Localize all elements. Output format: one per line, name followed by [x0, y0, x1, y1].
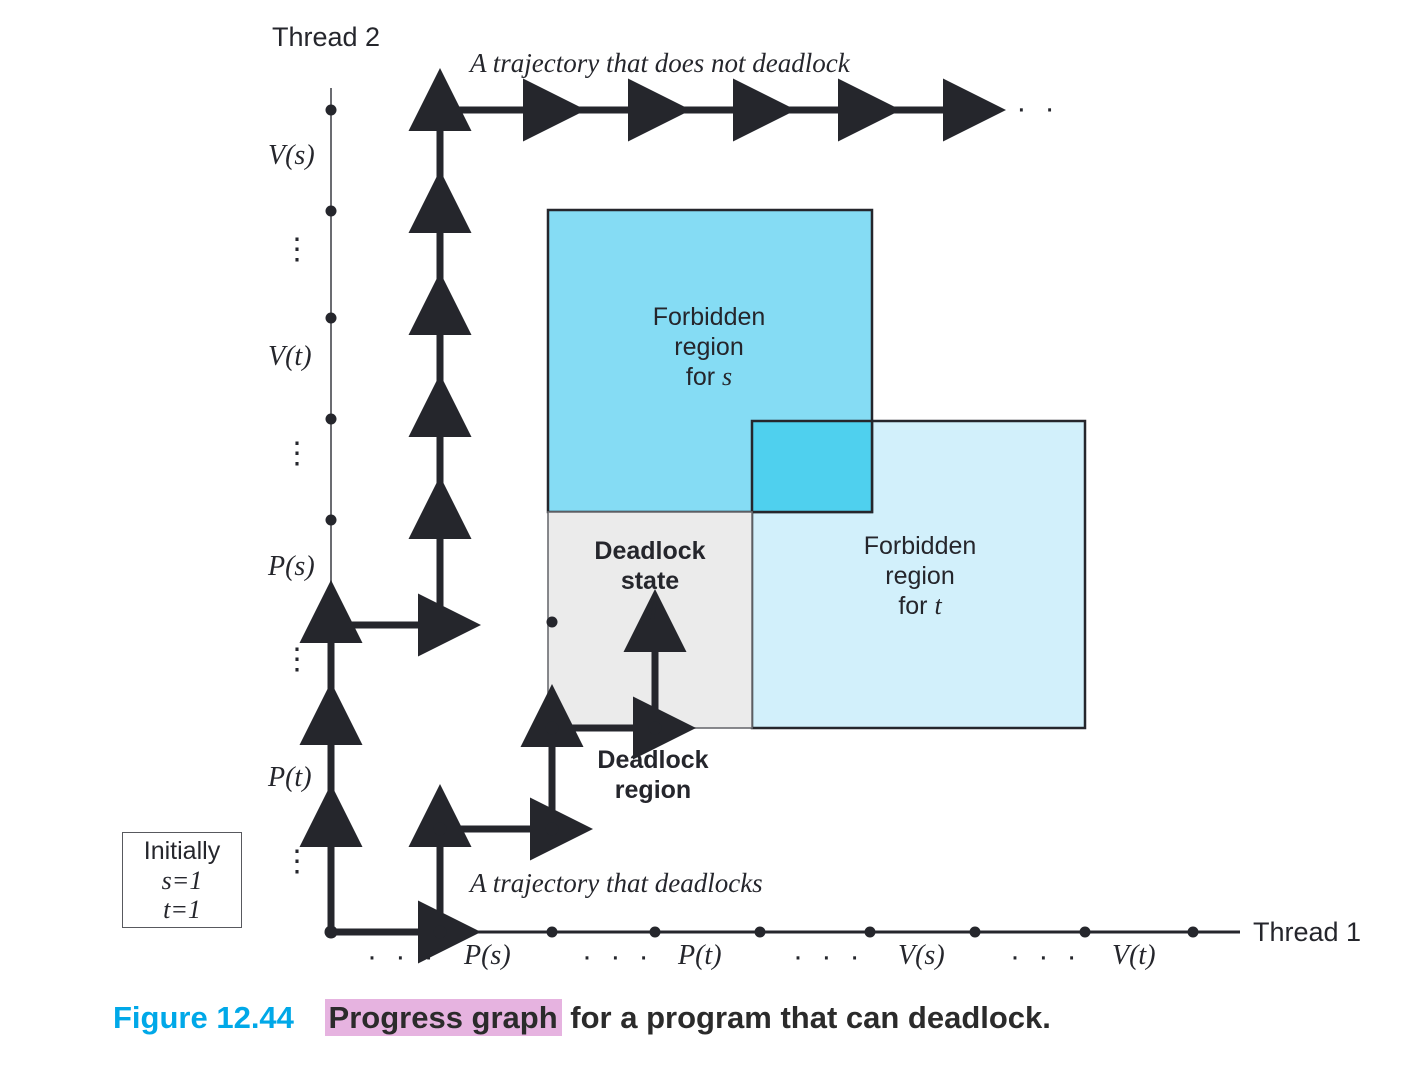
x-tick-label-vs: V(s) — [898, 940, 945, 972]
forbidden-t-line3: for t — [800, 591, 1040, 621]
forbidden-t-var: t — [934, 591, 941, 620]
forbidden-region-s-label: Forbidden region for s — [589, 302, 829, 392]
x-tick-label-ps: P(s) — [464, 940, 511, 972]
y-tick-label-pt: P(t) — [268, 762, 312, 794]
deadlock-state-d: d — [643, 596, 657, 626]
y-tick-label-ps: P(s) — [268, 551, 315, 583]
deadlock-trajectory-label: A trajectory that deadlocks — [470, 868, 763, 899]
x-axis-title: Thread 1 — [1253, 917, 1361, 948]
forbidden-s-line1: Forbidden — [589, 302, 829, 332]
deadlock-region-line2: region — [573, 775, 733, 805]
y-tick-dots-1: ⋮ — [282, 243, 312, 257]
forbidden-s-var: s — [722, 362, 732, 391]
initial-title: Initially — [144, 837, 220, 866]
forbidden-t-for: for — [898, 592, 934, 620]
initial-s-value: s=1 — [162, 866, 203, 895]
initial-conditions-box: Initially s=1 t=1 — [122, 832, 242, 928]
progress-graph-figure: Thread 2 Thread 1 V(s) ⋮ V(t) ⋮ P(s) ⋮ P… — [0, 0, 1420, 1090]
y-tick-label-vs: V(s) — [268, 140, 315, 172]
initial-t-value: t=1 — [163, 895, 201, 924]
x-tick-dots-3: · · · — [793, 940, 865, 974]
y-tick-dots-3: ⋮ — [282, 653, 312, 667]
safe-trajectory-trailing-dots: · · · — [988, 92, 1060, 126]
deadlock-state-var: d — [555, 596, 745, 627]
forbidden-s-line2: region — [589, 332, 829, 362]
x-tick-dots-4: · · · — [1010, 940, 1082, 974]
forbidden-s-line3: for s — [589, 362, 829, 392]
forbidden-region-t-label: Forbidden region for t — [800, 531, 1040, 621]
x-tick-dots-2: · · · — [582, 940, 654, 974]
y-tick-dots-4: ⋮ — [282, 855, 312, 869]
deadlock-state-line2: state — [555, 566, 745, 596]
x-tick-dots-1: · · · — [367, 940, 439, 974]
safe-trajectory-label: A trajectory that does not deadlock — [470, 48, 850, 79]
forbidden-t-line1: Forbidden — [800, 531, 1040, 561]
x-tick-label-pt: P(t) — [678, 940, 722, 972]
y-tick-dots-2: ⋮ — [282, 447, 312, 461]
figure-number: Figure 12.44 — [113, 1000, 294, 1035]
figure-highlighted-term: Progress graph — [325, 999, 562, 1036]
figure-caption: Figure 12.44 Progress graph for a progra… — [113, 1000, 1051, 1036]
deadlock-region-label: Deadlock region — [573, 745, 733, 805]
initial-s-text: s=1 — [162, 866, 203, 895]
deadlock-state-line1: Deadlock — [555, 536, 745, 566]
deadlock-state-label: Deadlock state d — [555, 536, 745, 627]
initial-t-text: t=1 — [163, 895, 201, 924]
forbidden-overlap-rect — [752, 421, 872, 512]
forbidden-s-for: for — [686, 363, 722, 391]
figure-caption-rest: for a program that can deadlock. — [570, 1000, 1051, 1035]
y-tick-label-vt: V(t) — [268, 341, 312, 373]
deadlock-region-line1: Deadlock — [573, 745, 733, 775]
x-tick-label-vt: V(t) — [1112, 940, 1156, 972]
y-axis-title: Thread 2 — [272, 22, 380, 53]
forbidden-t-line2: region — [800, 561, 1040, 591]
